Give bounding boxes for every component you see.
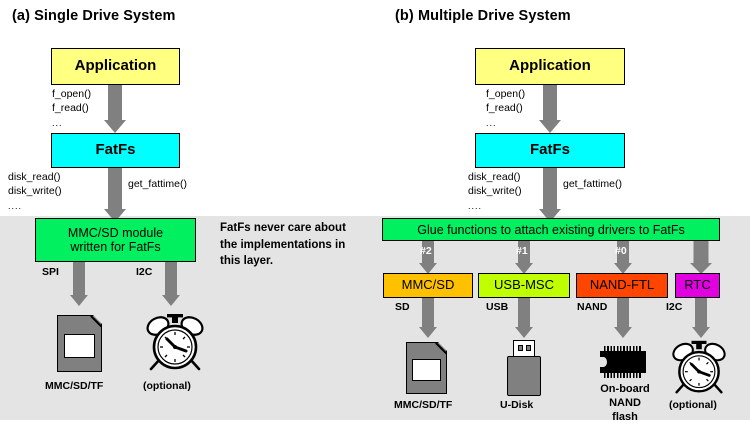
box-fatfs-b-label: FatFs xyxy=(530,142,570,159)
label-f-open-a: f_open() xyxy=(52,88,91,100)
label-bus-usb: USB xyxy=(486,301,508,313)
device-label-mmcsdtf-a: MMC/SD/TF xyxy=(45,380,103,392)
box-driver-usbmsc[interactable]: USB-MSC xyxy=(478,273,570,298)
arrow-fatfs-to-module-a xyxy=(104,168,126,222)
device-label-optional-b: (optional) xyxy=(669,399,717,411)
label-ellipsis-a-2: .... xyxy=(8,201,22,211)
label-ellipsis-b-1: ... xyxy=(486,118,497,128)
arrow-bus-nand xyxy=(614,298,632,338)
label-disk-write-a: disk_write() xyxy=(8,185,62,197)
sd-card-icon xyxy=(57,315,102,372)
label-disk-write-b: disk_write() xyxy=(468,185,522,197)
box-fatfs-a[interactable]: FatFs xyxy=(51,133,180,168)
label-drive-1: #1 xyxy=(516,245,528,257)
box-driver-usbmsc-label: USB-MSC xyxy=(494,278,554,293)
label-f-read-b: f_read() xyxy=(486,102,523,114)
box-fatfs-b[interactable]: FatFs xyxy=(475,133,625,168)
label-bus-i2c-a: I2C xyxy=(136,266,152,278)
label-bus-i2c-b: I2C xyxy=(666,301,682,313)
arrow-i2c-a xyxy=(162,262,180,306)
box-glue-functions-label: Glue functions to attach existing driver… xyxy=(417,223,684,237)
box-glue-functions[interactable]: Glue functions to attach existing driver… xyxy=(382,218,720,241)
box-application-a[interactable]: Application xyxy=(51,48,180,85)
label-ellipsis-b-2: .... xyxy=(468,201,482,211)
box-driver-rtc[interactable]: RTC xyxy=(675,273,720,298)
box-application-a-label: Application xyxy=(75,58,157,75)
box-mmcsd-module-a-label: MMC/SD module written for FatFs xyxy=(68,226,163,254)
arrow-bus-i2c-b xyxy=(692,298,710,338)
label-get-fattime-a: get_fattime() xyxy=(128,178,187,190)
device-label-nandflash: On-board NAND flash xyxy=(597,383,653,424)
label-disk-read-a: disk_read() xyxy=(8,171,61,183)
arrow-fatfs-to-glue-b xyxy=(539,168,561,222)
device-label-udisk: U-Disk xyxy=(500,399,533,411)
label-ellipsis-a-1: ... xyxy=(52,118,63,128)
usb-drive-icon xyxy=(505,340,543,396)
arrow-glue-to-rtc xyxy=(690,241,712,274)
box-application-b[interactable]: Application xyxy=(475,48,625,85)
label-bus-nand: NAND xyxy=(577,301,607,313)
label-f-read-a: f_read() xyxy=(52,102,89,114)
label-drive-0: #0 xyxy=(615,245,627,257)
panel-b-title: (b) Multiple Drive System xyxy=(395,8,571,24)
box-driver-nandftl-label: NAND-FTL xyxy=(590,278,654,293)
box-driver-mmcsd-label: MMC/SD xyxy=(402,278,455,293)
box-driver-mmcsd[interactable]: MMC/SD xyxy=(383,273,473,298)
box-mmcsd-module-a[interactable]: MMC/SD module written for FatFs xyxy=(35,218,196,262)
note-implementation-layer: FatFs never care about the implementatio… xyxy=(220,220,370,270)
device-label-mmcsdtf-b: MMC/SD/TF xyxy=(394,399,452,411)
label-drive-2: #2 xyxy=(420,245,432,257)
arrow-bus-sd xyxy=(419,298,437,338)
arrow-app-to-fatfs-a xyxy=(104,85,126,133)
sd-card-icon xyxy=(406,342,447,394)
arrow-bus-usb xyxy=(515,298,533,338)
nand-chip-icon xyxy=(600,346,646,378)
label-bus-spi-a: SPI xyxy=(42,266,59,278)
alarm-clock-icon xyxy=(144,311,206,373)
box-fatfs-a-label: FatFs xyxy=(95,142,135,159)
panel-a-title: (a) Single Drive System xyxy=(12,8,175,24)
alarm-clock-icon xyxy=(670,338,728,396)
label-bus-sd: SD xyxy=(395,301,410,313)
label-disk-read-b: disk_read() xyxy=(468,171,521,183)
box-driver-rtc-label: RTC xyxy=(684,278,710,293)
arrow-spi-a xyxy=(70,262,88,306)
label-f-open-b: f_open() xyxy=(486,88,525,100)
box-driver-nandftl[interactable]: NAND-FTL xyxy=(576,273,668,298)
arrow-app-to-fatfs-b xyxy=(539,85,561,133)
label-get-fattime-b: get_fattime() xyxy=(563,178,622,190)
box-application-b-label: Application xyxy=(509,58,591,75)
device-label-optional-a: (optional) xyxy=(143,380,191,392)
